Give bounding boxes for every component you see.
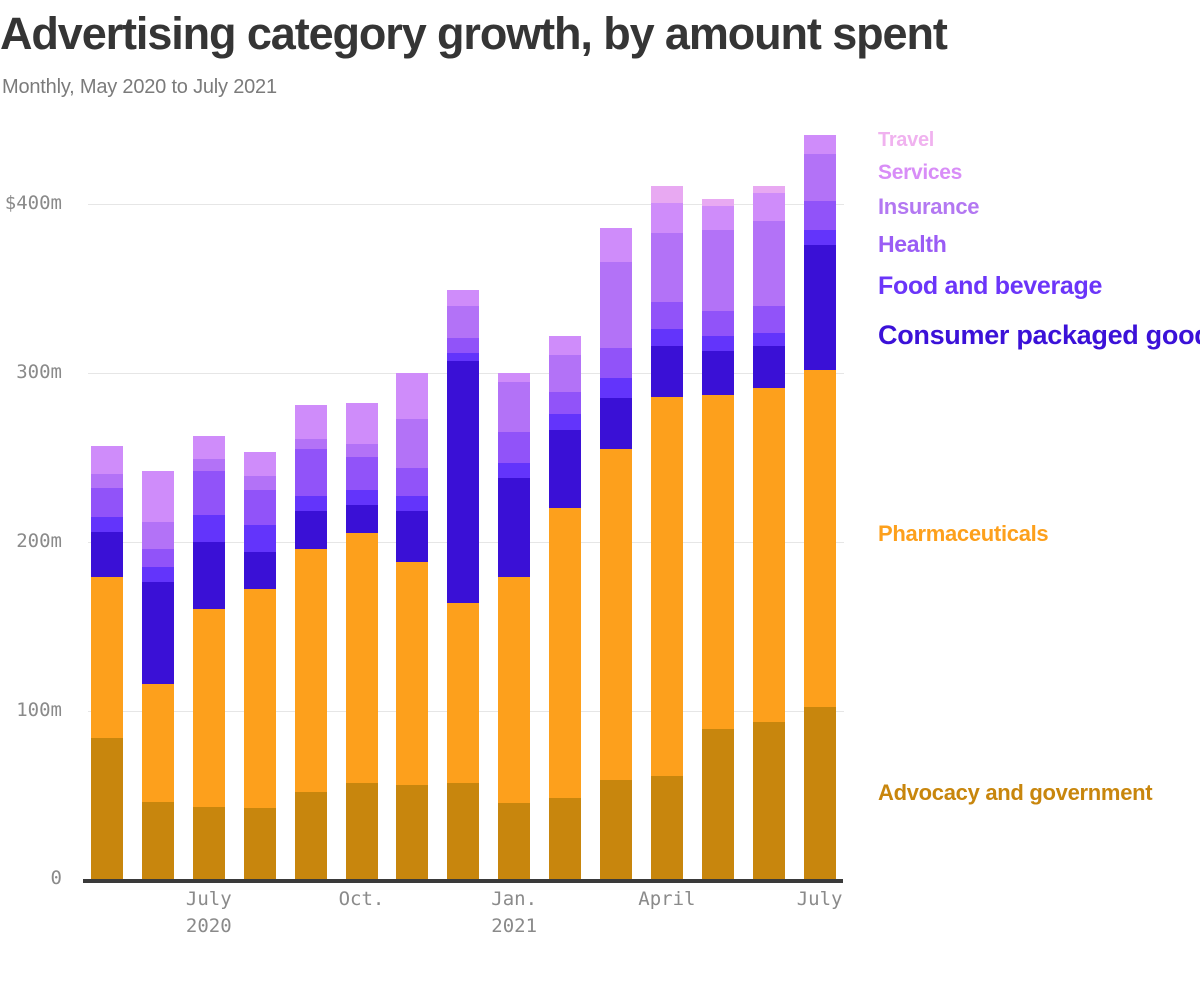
bar-segment[interactable]	[651, 233, 683, 302]
bar-segment[interactable]	[600, 449, 632, 780]
bar-segment[interactable]	[549, 430, 581, 508]
bar-segment[interactable]	[142, 802, 174, 881]
x-axis-baseline	[83, 879, 843, 883]
bar-segment[interactable]	[346, 457, 378, 489]
bar-segment[interactable]	[651, 302, 683, 329]
x-axis-tick-label: Jan.2021	[444, 886, 584, 940]
bar-column[interactable]	[346, 403, 378, 881]
bar-segment[interactable]	[702, 230, 734, 311]
bar-column[interactable]	[193, 436, 225, 882]
bar-segment[interactable]	[600, 348, 632, 378]
bar-column[interactable]	[702, 199, 734, 881]
bar-segment[interactable]	[753, 193, 785, 222]
bar-segment[interactable]	[498, 803, 530, 881]
bar-segment[interactable]	[753, 388, 785, 722]
x-tick-year: 2021	[444, 913, 584, 940]
bar-column[interactable]	[651, 186, 683, 881]
x-tick-month: July	[186, 888, 232, 910]
x-tick-month: Oct.	[339, 888, 385, 910]
bar-segment[interactable]	[804, 245, 836, 370]
bar-segment[interactable]	[142, 471, 174, 522]
bar-segment[interactable]	[600, 398, 632, 449]
bar-segment[interactable]	[702, 395, 734, 729]
bar-segment[interactable]	[651, 329, 683, 346]
bar-column[interactable]	[549, 336, 581, 881]
bar-column[interactable]	[498, 373, 530, 881]
bar-segment[interactable]	[702, 729, 734, 881]
bar-segment[interactable]	[804, 230, 836, 245]
bar-segment[interactable]	[498, 373, 530, 381]
bar-column[interactable]	[396, 373, 428, 881]
bar-segment[interactable]	[651, 776, 683, 881]
bar-segment[interactable]	[804, 135, 836, 154]
bar-segment[interactable]	[396, 468, 428, 497]
x-axis-tick-label: July	[750, 886, 890, 913]
bar-segment[interactable]	[91, 738, 123, 881]
bar-segment[interactable]	[396, 511, 428, 562]
bar-segment[interactable]	[549, 392, 581, 414]
bar-segment[interactable]	[193, 542, 225, 610]
bar-segment[interactable]	[549, 355, 581, 392]
bar-segment[interactable]	[295, 511, 327, 548]
bar-segment[interactable]	[244, 476, 276, 490]
bar-segment[interactable]	[447, 290, 479, 305]
bar-segment[interactable]	[295, 439, 327, 449]
bar-segment[interactable]	[295, 496, 327, 511]
bar-segment[interactable]	[346, 783, 378, 881]
x-axis-tick-label: Oct.	[292, 886, 432, 913]
bar-segment[interactable]	[396, 785, 428, 881]
x-axis-tick-label: July2020	[139, 886, 279, 940]
bar-segment[interactable]	[346, 403, 378, 444]
bar-segment[interactable]	[193, 459, 225, 471]
bar-segment[interactable]	[91, 532, 123, 578]
x-axis-tick-label: April	[597, 886, 737, 913]
bar-segment[interactable]	[447, 338, 479, 353]
bar-segment[interactable]	[498, 382, 530, 433]
bar-segment[interactable]	[346, 505, 378, 534]
legend-item-travel[interactable]: Travel	[878, 129, 934, 152]
bar-segment[interactable]	[142, 522, 174, 549]
bar-column[interactable]	[91, 446, 123, 881]
legend-item-pharmaceuticals[interactable]: Pharmaceuticals	[878, 521, 1048, 547]
bar-segment[interactable]	[549, 336, 581, 355]
bar-segment[interactable]	[651, 346, 683, 397]
legend-item-consumer-packaged-goods[interactable]: Consumer packaged goods	[878, 320, 1200, 351]
bar-segment[interactable]	[702, 206, 734, 230]
bar-column[interactable]	[600, 228, 632, 881]
bar-column[interactable]	[295, 405, 327, 881]
bar-segment[interactable]	[651, 186, 683, 203]
bar-segment[interactable]	[91, 446, 123, 475]
bar-segment[interactable]	[651, 397, 683, 777]
bar-segment[interactable]	[549, 798, 581, 881]
bar-segment[interactable]	[702, 336, 734, 351]
bar-segment[interactable]	[447, 306, 479, 338]
bar-segment[interactable]	[244, 490, 276, 525]
bar-segment[interactable]	[804, 707, 836, 881]
bar-segment[interactable]	[142, 567, 174, 582]
bar-segment[interactable]	[91, 577, 123, 737]
bar-segment[interactable]	[753, 333, 785, 347]
bar-segment[interactable]	[447, 361, 479, 602]
bar-segment[interactable]	[753, 186, 785, 193]
bar-segment[interactable]	[396, 562, 428, 785]
bar-segment[interactable]	[193, 436, 225, 460]
bar-segment[interactable]	[498, 577, 530, 803]
bar-segment[interactable]	[193, 807, 225, 881]
bar-segment[interactable]	[142, 684, 174, 802]
legend-item-advocacy-and-government[interactable]: Advocacy and government	[878, 780, 1152, 806]
bar-segment[interactable]	[244, 525, 276, 552]
bar-segment[interactable]	[549, 414, 581, 431]
bar-segment[interactable]	[91, 517, 123, 532]
bar-segment[interactable]	[600, 228, 632, 262]
bar-segment[interactable]	[447, 353, 479, 361]
bar-column[interactable]	[753, 186, 785, 881]
bar-segment[interactable]	[447, 603, 479, 784]
bar-segment[interactable]	[600, 378, 632, 398]
bar-segment[interactable]	[753, 306, 785, 333]
bar-segment[interactable]	[804, 201, 836, 230]
bar-segment[interactable]	[346, 490, 378, 505]
bar-segment[interactable]	[753, 346, 785, 388]
bar-segment[interactable]	[244, 452, 276, 476]
bar-segment[interactable]	[295, 549, 327, 792]
x-tick-month: Jan.	[491, 888, 537, 910]
bar-segment[interactable]	[396, 419, 428, 468]
bar-segment[interactable]	[702, 311, 734, 336]
bar-column[interactable]	[142, 471, 174, 881]
bar-segment[interactable]	[447, 783, 479, 881]
bar-column[interactable]	[804, 135, 836, 881]
x-tick-month: April	[638, 888, 695, 910]
bar-segment[interactable]	[396, 373, 428, 419]
bar-segment[interactable]	[295, 449, 327, 496]
bar-segment[interactable]	[600, 780, 632, 881]
legend-item-food-and-beverage[interactable]: Food and beverage	[878, 272, 1102, 301]
bar-segment[interactable]	[396, 496, 428, 511]
legend-item-health[interactable]: Health	[878, 231, 947, 258]
legend-item-insurance[interactable]: Insurance	[878, 194, 979, 220]
bar-segment[interactable]	[600, 262, 632, 348]
bar-segment[interactable]	[498, 463, 530, 478]
bar-segment[interactable]	[244, 808, 276, 881]
bar-segment[interactable]	[346, 444, 378, 458]
bar-segment[interactable]	[91, 474, 123, 488]
chart-legend: TravelServicesInsuranceHealthFood and be…	[878, 0, 1200, 986]
x-tick-month: July	[797, 888, 843, 910]
bar-segment[interactable]	[142, 582, 174, 683]
bar-segment[interactable]	[142, 549, 174, 568]
bar-segment[interactable]	[804, 370, 836, 708]
bar-segment[interactable]	[498, 478, 530, 578]
bar-segment[interactable]	[346, 533, 378, 783]
bar-segment[interactable]	[91, 488, 123, 517]
bar-segment[interactable]	[295, 792, 327, 881]
bar-segment[interactable]	[702, 351, 734, 395]
bar-column[interactable]	[447, 290, 479, 881]
bar-segment[interactable]	[295, 405, 327, 439]
bar-segment[interactable]	[193, 609, 225, 806]
bar-column[interactable]	[244, 452, 276, 881]
bar-segment[interactable]	[498, 432, 530, 462]
bar-segment[interactable]	[753, 722, 785, 881]
bar-segment[interactable]	[702, 199, 734, 206]
bar-segment[interactable]	[193, 515, 225, 542]
bar-segment[interactable]	[549, 508, 581, 798]
bar-segment[interactable]	[244, 552, 276, 589]
bar-segment[interactable]	[244, 589, 276, 808]
bar-segment[interactable]	[651, 203, 683, 233]
bar-segment[interactable]	[753, 221, 785, 305]
x-tick-year: 2020	[139, 913, 279, 940]
bar-segment[interactable]	[804, 154, 836, 201]
legend-item-services[interactable]: Services	[878, 161, 962, 185]
bar-segment[interactable]	[193, 471, 225, 515]
